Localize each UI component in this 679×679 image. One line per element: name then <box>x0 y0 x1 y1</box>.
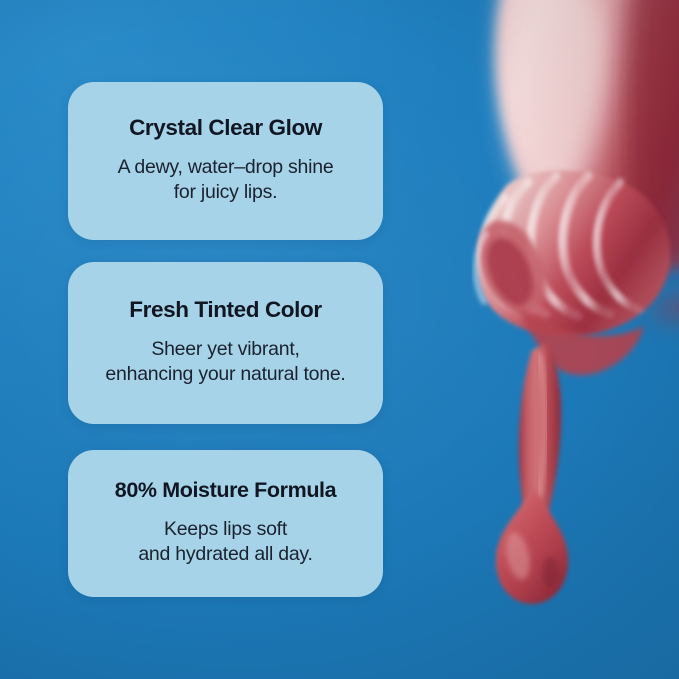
feature-card-2: Fresh Tinted Color Sheer yet vibrant, en… <box>68 262 383 424</box>
feature-card-3-title: 80% Moisture Formula <box>115 479 336 503</box>
feature-card-1-title: Crystal Clear Glow <box>129 116 322 141</box>
feature-card-2-body: Sheer yet vibrant, enhancing your natura… <box>93 337 357 388</box>
product-feature-graphic: Crystal Clear Glow A dewy, water–drop sh… <box>0 0 679 679</box>
feature-card-3: 80% Moisture Formula Keeps lips soft and… <box>68 450 383 597</box>
feature-card-1-body: A dewy, water–drop shine for juicy lips. <box>106 155 346 206</box>
feature-card-3-body: Keeps lips soft and hydrated all day. <box>126 517 324 568</box>
feature-card-2-title: Fresh Tinted Color <box>129 298 321 323</box>
feature-card-1: Crystal Clear Glow A dewy, water–drop sh… <box>68 82 383 240</box>
